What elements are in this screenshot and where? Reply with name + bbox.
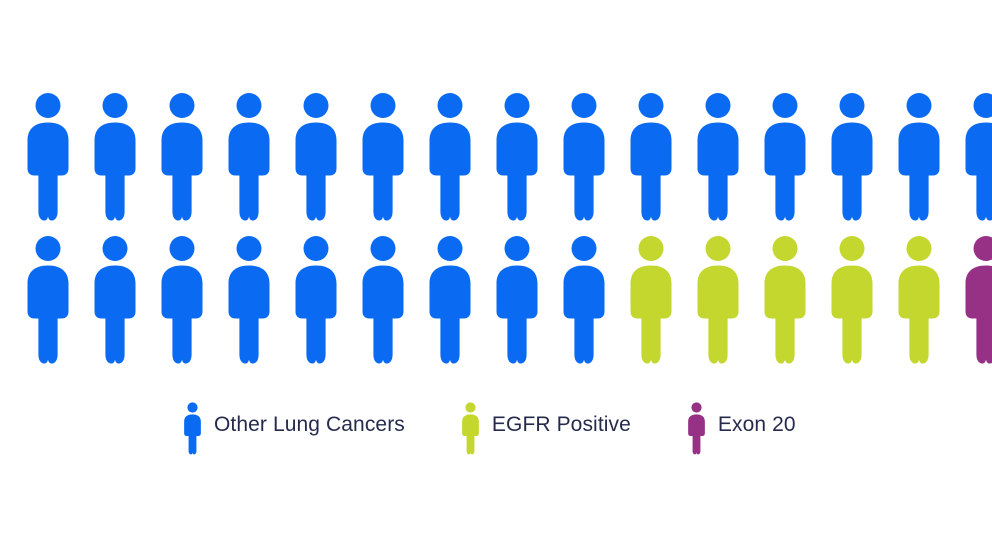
person-icon — [687, 402, 706, 455]
person-icon — [427, 92, 494, 222]
person-icon — [896, 235, 963, 365]
person-icon — [896, 92, 963, 222]
person-icon — [25, 92, 92, 222]
person-icon — [360, 92, 427, 222]
person-icon — [461, 402, 480, 455]
person-icon — [360, 235, 427, 365]
legend-item-label: EGFR Positive — [492, 414, 631, 435]
person-icon — [92, 235, 159, 365]
legend-item-label: Other Lung Cancers — [214, 414, 405, 435]
legend-item-label: Exon 20 — [718, 414, 796, 435]
person-icon — [427, 235, 494, 365]
person-icon — [92, 92, 159, 222]
pictogram-chart: Other Lung CancersEGFR PositiveExon 20 — [0, 0, 992, 558]
person-icon — [695, 92, 762, 222]
person-icon — [963, 92, 992, 222]
person-icon — [762, 235, 829, 365]
person-icon — [25, 235, 92, 365]
person-icon — [293, 235, 360, 365]
pictogram-row — [25, 235, 967, 378]
legend-item[interactable]: Other Lung Cancers — [183, 402, 405, 455]
person-icon — [762, 92, 829, 222]
person-icon — [695, 235, 762, 365]
person-icon — [494, 92, 561, 222]
person-icon — [628, 235, 695, 365]
legend-item[interactable]: EGFR Positive — [461, 402, 631, 455]
person-icon — [226, 92, 293, 222]
person-icon — [561, 92, 628, 222]
person-icon — [561, 235, 628, 365]
pictogram-row — [25, 92, 967, 235]
pictogram-grid — [25, 92, 967, 378]
person-icon — [226, 235, 293, 365]
chart-legend: Other Lung CancersEGFR PositiveExon 20 — [183, 402, 796, 455]
person-icon — [159, 92, 226, 222]
person-icon — [829, 92, 896, 222]
person-icon — [159, 235, 226, 365]
person-icon — [628, 92, 695, 222]
person-icon — [494, 235, 561, 365]
person-icon — [829, 235, 896, 365]
person-icon — [293, 92, 360, 222]
person-icon — [183, 402, 202, 455]
person-icon — [963, 235, 992, 365]
legend-item[interactable]: Exon 20 — [687, 402, 796, 455]
